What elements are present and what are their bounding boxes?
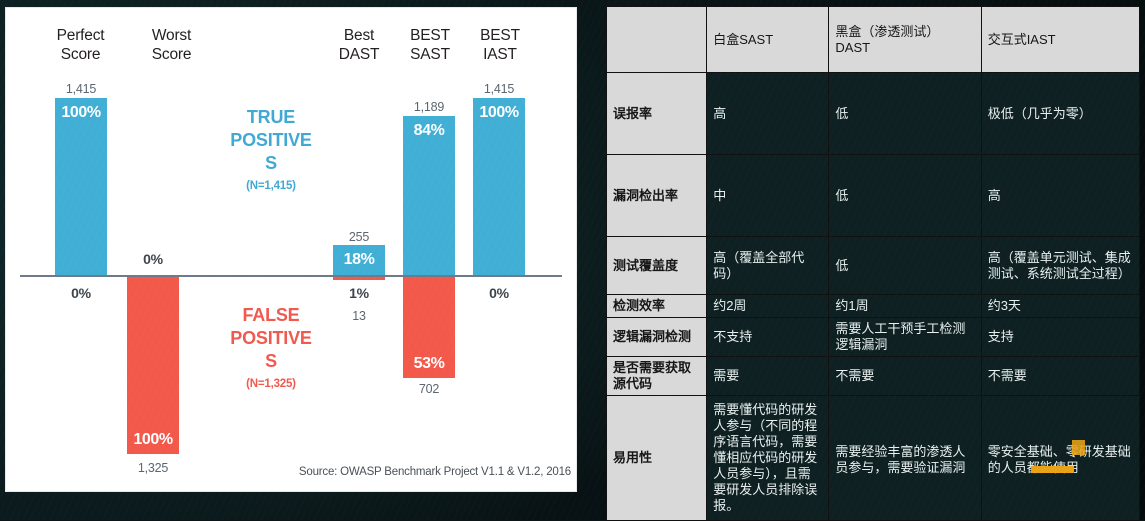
cell-iast: 高 [981, 155, 1139, 237]
header-line-1: Best [318, 26, 400, 45]
cell-iast: 高（覆盖单元测试、集成测试、系统测试全过程） [981, 237, 1139, 295]
header-line-1: BEST [459, 26, 541, 45]
slide-canvas: Perfect Score Worst Score Best DAST BEST… [0, 0, 1145, 520]
row-label-usability: 易用性 [607, 396, 707, 521]
bar-true-positive-dast: 18% [333, 245, 385, 275]
table-row: 漏洞检出率 中 低 高 [607, 155, 1140, 237]
bar-true-positive-iast: 100% [473, 98, 525, 275]
bar-percent-label: 100% [55, 104, 107, 122]
bar-percent-label: 100% [127, 431, 179, 449]
table-header-corner [607, 7, 707, 73]
row-label-test-coverage: 测试覆盖度 [607, 237, 707, 295]
table-header-dast-line2: DAST [835, 40, 974, 56]
chart-column-header-best-dast: Best DAST [318, 26, 400, 64]
cell-dast: 约1周 [829, 295, 981, 318]
legend-line-2: POSITIVE [201, 327, 341, 350]
header-line-2: Score [119, 45, 224, 64]
bar-false-positive-dast [333, 277, 385, 280]
cell-sast: 需要懂代码的研发人参与（不同的程序语言代码，需要懂相应代码的研发人员参与），且需… [707, 396, 829, 521]
header-line-1: Worst [119, 26, 224, 45]
table-header-dast-line1: 黑盒（渗透测试） [835, 24, 974, 40]
sast-dast-iast-comparison-table: 白盒SAST 黑盒（渗透测试） DAST 交互式IAST 误报率 高 低 极低（… [606, 6, 1140, 521]
count-label-worst-fp: 1,325 [113, 461, 193, 475]
bar-percent-label: 18% [333, 251, 385, 269]
percent-label-perfect-fp: 0% [41, 285, 121, 301]
table-header-dast: 黑盒（渗透测试） DAST [829, 7, 981, 73]
legend-sample-size: (N=1,325) [201, 376, 341, 392]
cell-dast: 不需要 [829, 357, 981, 396]
cell-sast: 高 [707, 73, 829, 155]
header-line-2: DAST [318, 45, 400, 64]
bar-true-positive-perfect: 100% [55, 98, 107, 275]
count-label-sast-tp: 1,189 [389, 100, 469, 114]
percent-label-iast-fp: 0% [459, 285, 539, 301]
table-row: 测试覆盖度 高（覆盖全部代码） 低 高（覆盖单元测试、集成测试、系统测试全过程） [607, 237, 1140, 295]
cell-iast: 极低（几乎为零） [981, 73, 1139, 155]
comparison-table-container: 白盒SAST 黑盒（渗透测试） DAST 交互式IAST 误报率 高 低 极低（… [606, 6, 1140, 506]
table-row: 误报率 高 低 极低（几乎为零） [607, 73, 1140, 155]
cell-dast: 需要人工干预手工检测逻辑漏洞 [829, 318, 981, 357]
percent-label-dast-fp: 1% [319, 285, 399, 301]
percent-label-worst-tp: 0% [113, 251, 193, 267]
chart-source-note: Source: OWASP Benchmark Project V1.1 & V… [256, 466, 571, 478]
row-label-detection-efficiency: 检测效率 [607, 295, 707, 318]
count-label-iast-tp: 1,415 [459, 82, 539, 96]
bar-percent-label: 53% [403, 355, 455, 373]
table-header-sast: 白盒SAST [707, 7, 829, 73]
chart-zero-axis [20, 275, 562, 277]
row-label-logic-vuln-detection: 逻辑漏洞检测 [607, 318, 707, 357]
bar-false-positive-sast: 53% [403, 277, 455, 378]
table-header-iast: 交互式IAST [981, 7, 1139, 73]
header-line-1: Perfect [28, 26, 133, 45]
legend-sample-size: (N=1,415) [201, 178, 341, 194]
legend-line-2: POSITIVE [201, 129, 341, 152]
chart-plot-area: Perfect Score Worst Score Best DAST BEST… [6, 8, 576, 491]
header-line-2: Score [28, 45, 133, 64]
cell-sast: 不支持 [707, 318, 829, 357]
row-label-false-positive-rate: 误报率 [607, 73, 707, 155]
legend-line-1: FALSE [201, 304, 341, 327]
legend-line-3: S [201, 152, 341, 175]
table-row: 检测效率 约2周 约1周 约3天 [607, 295, 1140, 318]
table-header-row: 白盒SAST 黑盒（渗透测试） DAST 交互式IAST [607, 7, 1140, 73]
cell-dast: 低 [829, 73, 981, 155]
legend-line-1: TRUE [201, 106, 341, 129]
annotation-underline-mark [1031, 466, 1074, 473]
cell-sast: 中 [707, 155, 829, 237]
chart-column-header-perfect-score: Perfect Score [28, 26, 133, 64]
row-label-source-code-required: 是否需要获取源代码 [607, 357, 707, 396]
owasp-benchmark-chart-panel: Perfect Score Worst Score Best DAST BEST… [5, 7, 577, 492]
cell-sast: 高（覆盖全部代码） [707, 237, 829, 295]
bar-true-positive-sast: 84% [403, 116, 455, 275]
cell-dast: 需要经验丰富的渗透人员参与，需要验证漏洞 [829, 396, 981, 521]
bar-false-positive-worst: 100% [127, 277, 179, 454]
count-label-dast-tp: 255 [319, 230, 399, 244]
count-label-perfect-tp: 1,415 [41, 82, 121, 96]
legend-true-positives: TRUE POSITIVE S (N=1,415) [201, 106, 341, 194]
header-line-2: IAST [459, 45, 541, 64]
cell-iast: 零安全基础、零研发基础的人员都能使用 [981, 396, 1139, 521]
row-label-detection-rate: 漏洞检出率 [607, 155, 707, 237]
cell-sast: 需要 [707, 357, 829, 396]
table-row: 易用性 需要懂代码的研发人参与（不同的程序语言代码，需要懂相应代码的研发人员参与… [607, 396, 1140, 521]
cell-dast: 低 [829, 155, 981, 237]
text-cursor-highlight [1072, 440, 1085, 455]
table-row: 是否需要获取源代码 需要 不需要 不需要 [607, 357, 1140, 396]
bar-percent-label: 84% [403, 122, 455, 140]
bar-percent-label: 100% [473, 104, 525, 122]
legend-false-positives: FALSE POSITIVE S (N=1,325) [201, 304, 341, 392]
cell-sast: 约2周 [707, 295, 829, 318]
table-row: 逻辑漏洞检测 不支持 需要人工干预手工检测逻辑漏洞 支持 [607, 318, 1140, 357]
cell-dast: 低 [829, 237, 981, 295]
chart-column-header-worst-score: Worst Score [119, 26, 224, 64]
cell-iast: 不需要 [981, 357, 1139, 396]
count-label-sast-fp: 702 [389, 382, 469, 396]
cell-iast: 约3天 [981, 295, 1139, 318]
legend-line-3: S [201, 350, 341, 373]
cell-iast: 支持 [981, 318, 1139, 357]
chart-column-header-best-iast: BEST IAST [459, 26, 541, 64]
